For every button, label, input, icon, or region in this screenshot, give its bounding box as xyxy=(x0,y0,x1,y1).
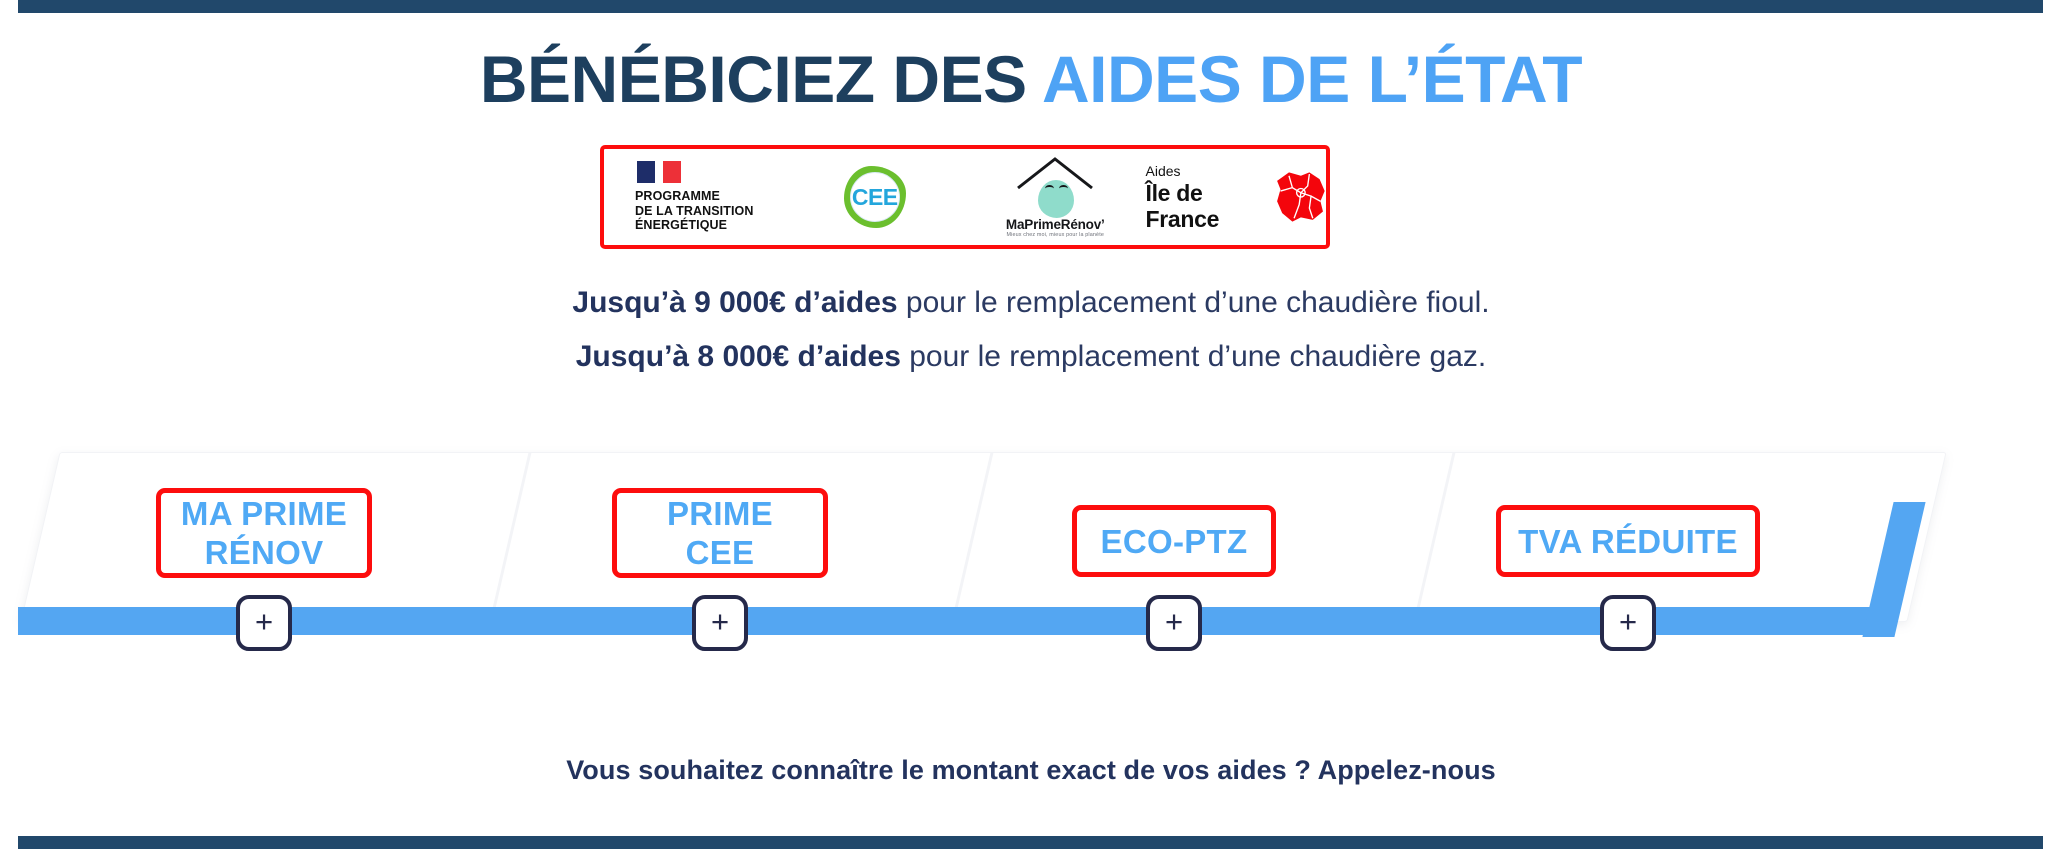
green-face-icon xyxy=(1038,180,1074,218)
aid-amount-lines: Jusqu’à 9 000€ d’aides pour le remplacem… xyxy=(0,276,2062,384)
face-eye-right-icon xyxy=(1059,185,1068,192)
aid-amount-bold: Jusqu’à 8 000€ d’aides xyxy=(576,340,901,373)
expand-button-eco-ptz[interactable]: + xyxy=(1146,595,1202,651)
logo-maprimerenov-tagline: Mieux chez moi, mieux pour la planète xyxy=(980,232,1130,238)
logo-maprimerenov: MaPrimeRénov’ Mieux chez moi, mieux pour… xyxy=(965,149,1146,245)
page-title-light-part: AIDES DE L’ÉTAT xyxy=(1042,42,1582,116)
panel-separator xyxy=(1414,453,1456,621)
cee-badge-icon: CEE xyxy=(844,166,906,228)
aid-badge-tva-reduite[interactable]: TVA RÉDUITE xyxy=(1496,505,1760,577)
aids-timeline-band: MA PRIME RÉNOV PRIME CEE ECO-PTZ TVA RÉD… xyxy=(0,430,2062,670)
face-eye-left-icon xyxy=(1045,185,1054,192)
aid-amount-rest: pour le remplacement d’une chaudière gaz… xyxy=(901,340,1486,373)
logo-idf-label-region: Île de France xyxy=(1146,180,1262,232)
expand-button-prime-cee[interactable]: + xyxy=(692,595,748,651)
logo-maprimerenov-label: MaPrimeRénov’ xyxy=(980,217,1130,232)
top-divider-bar xyxy=(18,0,2043,13)
aid-amount-bold: Jusqu’à 9 000€ d’aides xyxy=(572,286,897,319)
aid-amount-line: Jusqu’à 9 000€ d’aides pour le remplacem… xyxy=(0,276,2062,330)
logo-idf-label-aides: Aides xyxy=(1146,163,1262,180)
logo-cee-label: CEE xyxy=(852,184,898,211)
page-title-dark-part: BÉNÉBICIEZ DES xyxy=(480,42,1042,116)
logo-cee: CEE xyxy=(785,149,966,245)
aid-badge-prime-cee[interactable]: PRIME CEE xyxy=(612,488,828,578)
panel-separator xyxy=(490,453,532,621)
page-title: BÉNÉBICIEZ DES AIDES DE L’ÉTAT xyxy=(0,40,2062,118)
call-us-text: Vous souhaitez connaître le montant exac… xyxy=(0,755,2062,786)
aid-amount-rest: pour le remplacement d’une chaudière fio… xyxy=(898,286,1490,319)
logo-aides-ile-de-france: Aides Île de France xyxy=(1146,149,1327,245)
french-flag-icon xyxy=(637,161,681,183)
bottom-divider-bar xyxy=(18,836,2043,849)
ile-de-france-map-icon xyxy=(1272,166,1326,228)
expand-button-tva-reduite[interactable]: + xyxy=(1600,595,1656,651)
aid-badge-ma-prime-renov[interactable]: MA PRIME RÉNOV xyxy=(156,488,372,578)
logo-programme-transition-energetique: PROGRAMME DE LA TRANSITION ÉNERGÉTIQUE xyxy=(604,149,785,245)
aid-badge-eco-ptz[interactable]: ECO-PTZ xyxy=(1072,505,1276,577)
logo-programme-label: PROGRAMME DE LA TRANSITION ÉNERGÉTIQUE xyxy=(635,189,754,233)
aid-amount-line: Jusqu’à 8 000€ d’aides pour le remplacem… xyxy=(0,330,2062,384)
panel-separator xyxy=(952,453,994,621)
expand-button-ma-prime-renov[interactable]: + xyxy=(236,595,292,651)
partner-logos-strip: PROGRAMME DE LA TRANSITION ÉNERGÉTIQUE C… xyxy=(600,145,1330,249)
